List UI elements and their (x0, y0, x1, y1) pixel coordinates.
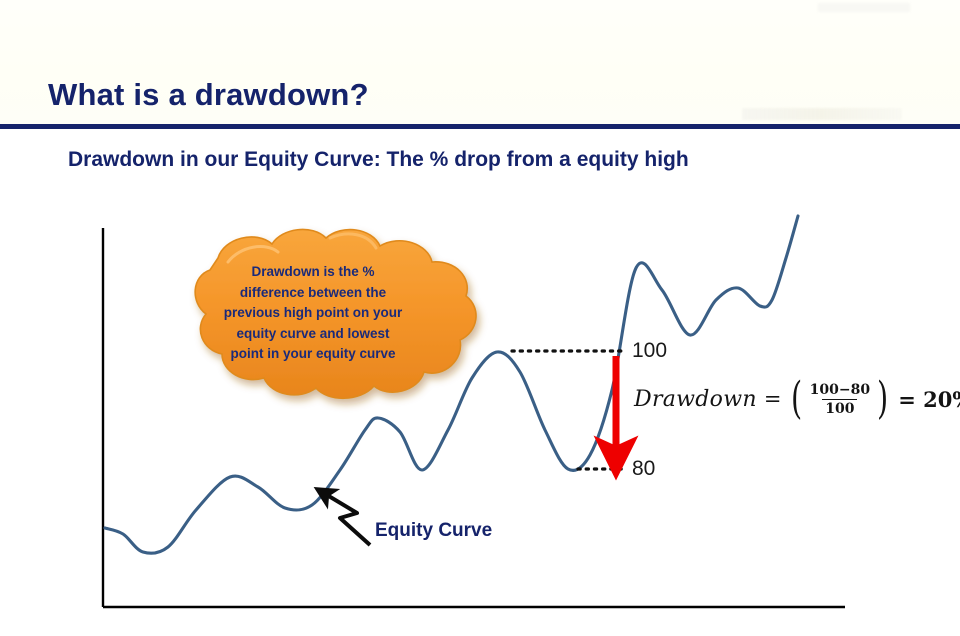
formula-denominator: 100 (822, 399, 857, 417)
cloud-line-2: difference between the (148, 283, 478, 304)
watermark-ghost (742, 108, 902, 120)
cloud-line-1: Drawdown is the % (148, 262, 478, 283)
header-divider (0, 124, 960, 129)
equity-curve-pointer-arrow (322, 492, 370, 545)
high-level-label: 100 (632, 339, 667, 363)
watermark-ghost-top (818, 3, 910, 12)
formula-fraction: 100−80 100 (807, 382, 873, 417)
cloud-line-5: point in your equity curve (148, 344, 478, 365)
low-level-label: 80 (632, 457, 655, 481)
page-title: What is a drawdown? (48, 77, 369, 113)
cloud-line-4: equity curve and lowest (148, 324, 478, 345)
reference-level-lines (512, 351, 625, 469)
slide-canvas: What is a drawdown? Drawdown in our Equi… (0, 0, 960, 636)
formula-equals: = (764, 387, 782, 411)
cloud-line-3: previous high point on your (148, 303, 478, 324)
formula-variable: Drawdown (634, 387, 757, 412)
equity-curve-label: Equity Curve (375, 520, 492, 542)
drawdown-formula: Drawdown = ( 100−80 100 ) = 20% (634, 381, 960, 417)
formula-numerator: 100−80 (807, 382, 873, 399)
cloud-callout-text: Drawdown is the % difference between the… (148, 262, 478, 365)
formula-close-paren: ) (877, 381, 888, 417)
formula-open-paren: ( (791, 381, 802, 417)
cloud-callout: Drawdown is the % difference between the… (148, 240, 478, 405)
formula-result: = 20% (898, 387, 960, 412)
slide-subtitle: Drawdown in our Equity Curve: The % drop… (68, 148, 689, 172)
